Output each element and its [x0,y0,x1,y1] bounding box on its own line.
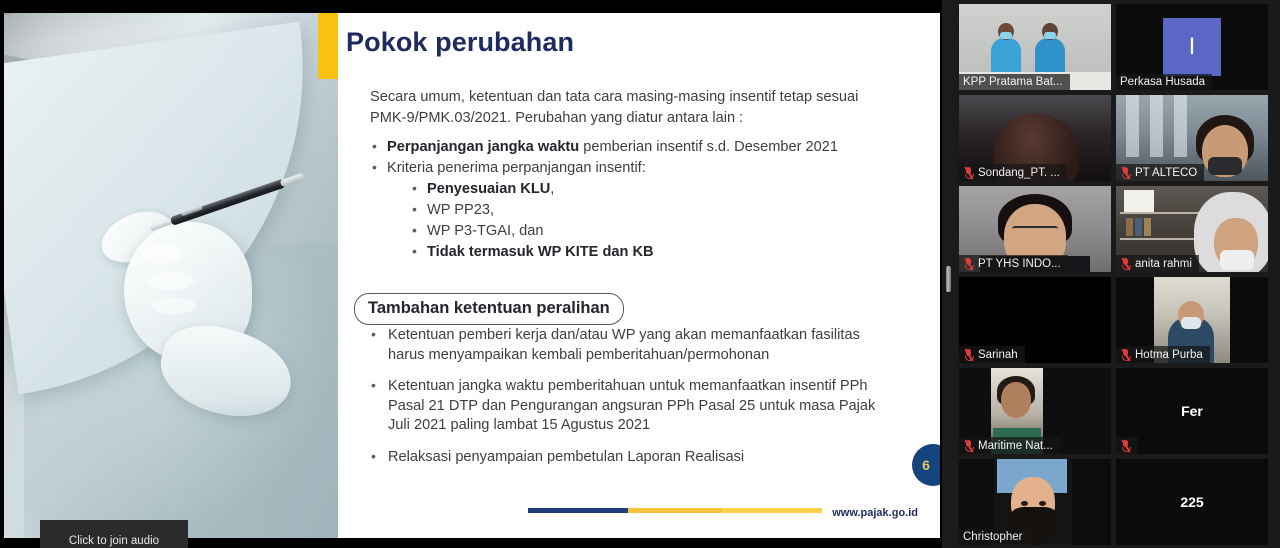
list-item-bold: Tidak termasuk WP KITE dan KB [427,244,654,260]
participant-name: Maritime Nat... [978,440,1053,452]
list-item: Ketentuan jangka waktu pemberitahuan unt… [368,377,888,436]
join-audio-button[interactable]: Click to join audio [40,520,188,548]
list-item: Penyesuaian KLU, [410,179,890,200]
participant-label: Sarinah [959,346,1025,363]
participant-tile[interactable]: Fer [1116,368,1268,454]
callout-box: Tambahan ketentuan peralihan [354,293,624,325]
participant-label: Hotma Purba [1116,346,1210,363]
participant-label: Christopher [959,529,1029,545]
participant-name: PT ALTECO [1135,167,1197,179]
participant-name-placeholder: 225 [1116,459,1268,545]
participant-name: Perkasa Husada [1120,76,1205,88]
participant-tile[interactable]: IPerkasa Husada [1116,4,1268,90]
participant-tile[interactable]: PT ALTECO [1116,95,1268,181]
participant-tile[interactable]: anita rahmi [1116,186,1268,272]
participant-name: anita rahmi [1135,258,1192,270]
footer-url: www.pajak.go.id [832,507,918,519]
list-item-text: , [550,181,554,197]
participant-label: Maritime Nat... [959,437,1060,454]
list-item: Perpanjangan jangka waktu pemberian inse… [370,137,930,158]
title-accent-bar [318,13,338,79]
participant-label: KPP Pratama Bat... [959,74,1070,90]
participant-tile[interactable]: 225 [1116,459,1268,545]
list-item-text: pemberian insentif s.d. Desember 2021 [579,139,838,155]
participant-tile[interactable]: Sarinah [959,277,1111,363]
participant-name: Christopher [963,531,1022,543]
drag-handle[interactable] [946,266,951,292]
mic-muted-icon [963,257,974,270]
mic-muted-icon [963,348,974,361]
list-item: Ketentuan pemberi kerja dan/atau WP yang… [368,326,888,365]
mic-muted-icon [963,439,974,452]
participant-tile[interactable]: Sondang_PT. ... [959,95,1111,181]
participant-tile[interactable]: Hotma Purba [1116,277,1268,363]
list-item-text: WP P3-TGAI, dan [427,223,544,239]
slide-page-number: 6 [912,444,940,486]
participant-name-placeholder: Fer [1116,368,1268,454]
mic-muted-icon [1120,257,1131,270]
participant-label [1116,437,1138,454]
list-item: WP PP23, [410,200,890,221]
mic-muted-icon [1120,439,1131,452]
zoom-meeting-window: Pokok perubahan Secara umum, ketentuan d… [0,0,1280,548]
slide-intro-text: Secara umum, ketentuan dan tata cara mas… [370,87,890,129]
participant-label: PT YHS INDO... [959,255,1068,272]
list-item-bold: Penyesuaian KLU [427,181,550,197]
bullet-list-level2: Penyesuaian KLU, WP PP23, WP P3-TGAI, da… [410,179,890,263]
shared-screen-area[interactable]: Pokok perubahan Secara umum, ketentuan d… [0,0,942,548]
list-item-bold: Perpanjangan jangka waktu [387,139,579,155]
bullet-list-level3: Ketentuan pemberi kerja dan/atau WP yang… [368,326,888,479]
page-title: Pokok perubahan [346,27,574,58]
mic-muted-icon [1120,348,1131,361]
presentation-slide: Pokok perubahan Secara umum, ketentuan d… [4,13,940,538]
list-item: Relaksasi penyampaian pembetulan Laporan… [368,448,888,468]
list-item: Kriteria penerima perpanjangan insentif: [370,158,930,179]
participant-name: Sarinah [978,349,1018,361]
participant-tile[interactable]: PT YHS INDO... [959,186,1111,272]
participant-tile[interactable]: KPP Pratama Bat... [959,4,1111,90]
mic-muted-icon [963,166,974,179]
gloved-hand-graphic [102,198,292,398]
participant-tile[interactable]: Christopher [959,459,1111,545]
participant-name: KPP Pratama Bat... [963,76,1063,88]
list-item: Tidak termasuk WP KITE dan KB [410,242,890,263]
panel-divider [942,0,956,548]
participant-label: anita rahmi [1116,255,1199,272]
list-item-text: Kriteria penerima perpanjangan insentif: [387,160,646,176]
footer-accent-bar [528,508,822,513]
participant-tile[interactable]: Maritime Nat... [959,368,1111,454]
slide-content: Pokok perubahan Secara umum, ketentuan d… [338,13,940,538]
slide-photo-gloved-hand [4,13,338,538]
list-item-text: WP PP23, [427,202,494,218]
participant-label: Perkasa Husada [1116,74,1212,90]
avatar: I [1163,18,1221,76]
participant-label: Sondang_PT. ... [959,164,1067,181]
bullet-list-level1: Perpanjangan jangka waktu pemberian inse… [370,137,930,179]
participant-name: Sondang_PT. ... [978,167,1060,179]
participant-label: PT ALTECO [1116,164,1204,181]
participant-name: Hotma Purba [1135,349,1203,361]
participant-video-grid: KPP Pratama Bat...IPerkasa HusadaSondang… [956,0,1280,548]
mic-muted-icon [1120,166,1131,179]
participant-name: PT YHS INDO... [978,258,1061,270]
list-item: WP P3-TGAI, dan [410,221,890,242]
